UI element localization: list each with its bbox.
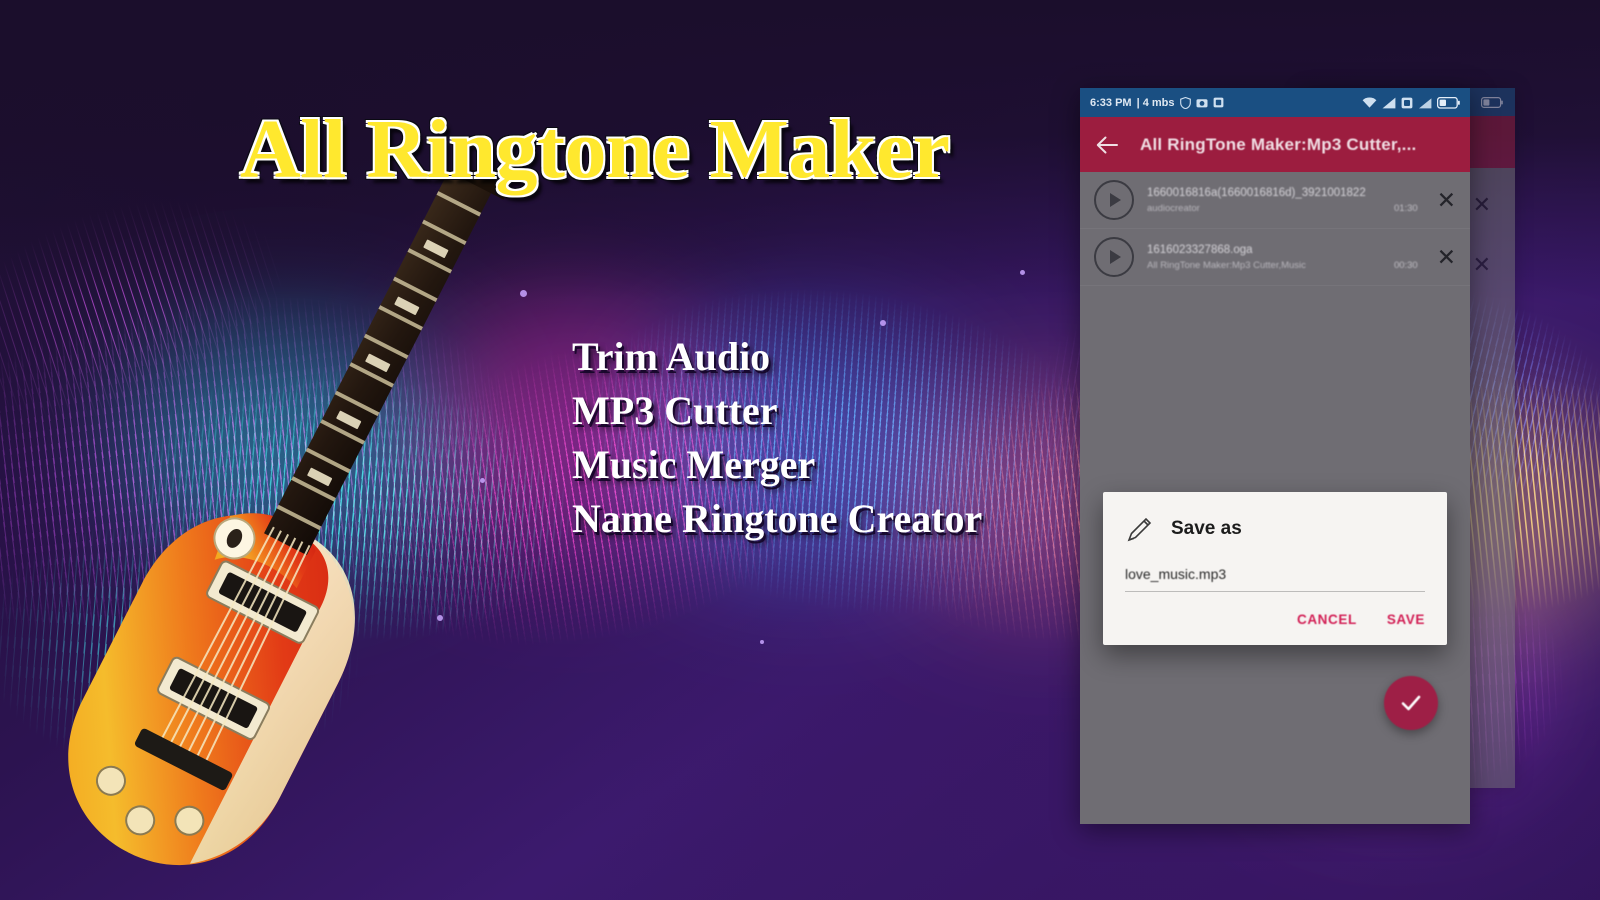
list-item-text: 1660016816a(1660016816d)_3921001822 audi…: [1147, 187, 1418, 214]
dialog-header: Save as: [1103, 492, 1447, 550]
feature-item: MP3 Cutter: [572, 384, 982, 438]
close-icon[interactable]: ✕: [1431, 246, 1456, 269]
dialog-actions: CANCEL SAVE: [1103, 592, 1447, 645]
page-title: All Ringtone Maker: [240, 108, 1060, 192]
sparkle-dot: [880, 320, 886, 326]
filename-value: love_music.mp3: [1125, 566, 1425, 582]
list-item-title: 1660016816a(1660016816d)_3921001822: [1147, 187, 1418, 199]
list-item[interactable]: 1660016816a(1660016816d)_3921001822 audi…: [1080, 172, 1470, 229]
dialog-title: Save as: [1171, 518, 1242, 540]
feature-item: Trim Audio: [572, 330, 982, 384]
status-network-text: | 4 mbs: [1137, 97, 1175, 109]
camera-icon: [1196, 97, 1208, 108]
close-icon[interactable]: ✕: [1473, 252, 1491, 278]
check-icon: [1398, 690, 1424, 716]
confirm-fab-button[interactable]: [1384, 676, 1438, 730]
list-item-text: 1616023327868.oga All RingTone Maker:Mp3…: [1147, 244, 1418, 271]
status-time: 6:33 PM: [1090, 97, 1132, 109]
signal-icon: [1418, 97, 1432, 109]
arrow-left-icon[interactable]: [1096, 136, 1118, 154]
list-item[interactable]: 1616023327868.oga All RingTone Maker:Mp3…: [1080, 229, 1470, 286]
sparkle-dot: [760, 640, 764, 644]
status-right-group: [1362, 97, 1460, 109]
sparkle-dot: [1020, 270, 1025, 275]
save-button[interactable]: SAVE: [1387, 612, 1425, 627]
play-circle-icon[interactable]: [1094, 180, 1134, 220]
audio-file-list: 1660016816a(1660016816d)_3921001822 audi…: [1080, 172, 1470, 286]
app-bar-title: All RingTone Maker:Mp3 Cutter,...: [1140, 135, 1416, 155]
list-item-duration: 01:30: [1394, 203, 1418, 214]
battery-icon: [1437, 97, 1460, 109]
shield-icon: [1180, 97, 1191, 109]
battery-icon: [1481, 97, 1503, 108]
android-status-bar: 6:33 PM | 4 mbs: [1080, 88, 1470, 117]
wifi-icon: [1362, 97, 1377, 109]
feature-item: Music Merger: [572, 438, 982, 492]
feature-item: Name Ringtone Creator: [572, 492, 982, 546]
screenshot-icon: [1213, 97, 1224, 108]
promo-banner: All Ringtone Maker Trim Audio MP3 Cutter…: [0, 0, 1600, 900]
electric-guitar-illustration: [10, 170, 530, 900]
sim-card-icon: [1401, 97, 1413, 109]
status-left-group: 6:33 PM | 4 mbs: [1090, 97, 1224, 109]
list-item-meta: audiocreator 01:30: [1147, 203, 1418, 214]
app-bar: All RingTone Maker:Mp3 Cutter,...: [1080, 117, 1470, 172]
signal-bars-icon: [1382, 97, 1396, 109]
save-as-dialog: Save as love_music.mp3 CANCEL SAVE: [1103, 492, 1447, 645]
dialog-scrim: Save as love_music.mp3 CANCEL SAVE: [1080, 286, 1470, 820]
list-item-duration: 00:30: [1394, 260, 1418, 271]
pencil-icon: [1125, 514, 1155, 544]
list-item-subtitle: audiocreator: [1147, 203, 1200, 214]
list-item-meta: All RingTone Maker:Mp3 Cutter,Music 00:3…: [1147, 260, 1418, 271]
phone-screenshot-front: 6:33 PM | 4 mbs: [1080, 88, 1470, 824]
play-circle-icon[interactable]: [1094, 237, 1134, 277]
list-item-subtitle: All RingTone Maker:Mp3 Cutter,Music: [1147, 260, 1306, 271]
list-item-title: 1616023327868.oga: [1147, 244, 1418, 256]
android-nav-bar: [1080, 820, 1470, 824]
filename-input[interactable]: love_music.mp3: [1125, 566, 1425, 592]
close-icon[interactable]: ✕: [1473, 192, 1491, 218]
close-icon[interactable]: ✕: [1431, 189, 1456, 212]
cancel-button[interactable]: CANCEL: [1297, 612, 1357, 627]
feature-list: Trim Audio MP3 Cutter Music Merger Name …: [572, 330, 982, 546]
